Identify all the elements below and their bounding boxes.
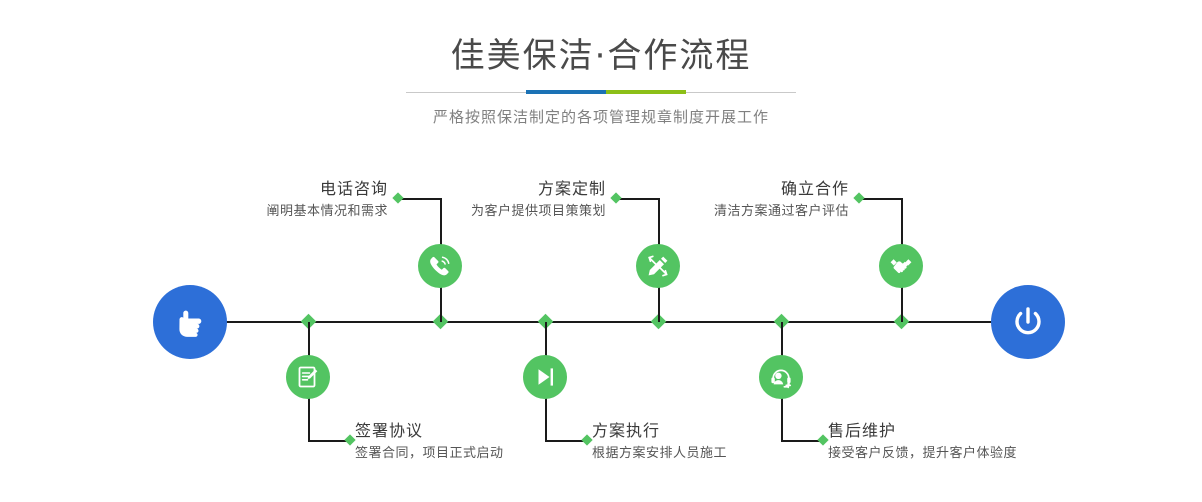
pointing-hand-icon: [169, 301, 211, 343]
step-title-6: 售后维护: [828, 420, 1017, 442]
infographic-page: 佳美保洁·合作流程 严格按照保洁制定的各项管理规章制度开展工作: [0, 0, 1202, 502]
page-subtitle: 严格按照保洁制定的各项管理规章制度开展工作: [0, 106, 1202, 128]
step-label-2: 签署协议 签署合同，项目正式启动: [355, 420, 504, 464]
step-label-1: 电话咨询 阐明基本情况和需求: [266, 178, 388, 222]
step-desc-4: 根据方案安排人员施工: [592, 444, 727, 464]
timeline-start-node[interactable]: [153, 285, 227, 359]
handshake-icon: [888, 253, 914, 279]
step-circle-2[interactable]: [286, 355, 330, 399]
timeline-end-node[interactable]: [991, 285, 1065, 359]
label-marker-5: [853, 192, 864, 203]
document-edit-icon: [295, 364, 321, 390]
step-desc-5: 清洁方案通过客户评估: [714, 202, 849, 222]
power-icon: [1008, 302, 1048, 342]
step-desc-6: 接受客户反馈，提升客户体验度: [828, 444, 1017, 464]
divider-segment-blue: [526, 90, 606, 94]
step-title-2: 签署协议: [355, 420, 504, 442]
label-marker-4: [581, 434, 592, 445]
label-marker-2: [344, 434, 355, 445]
step-circle-6[interactable]: [759, 355, 803, 399]
step-label-3: 方案定制 为客户提供项目策策划: [471, 178, 606, 222]
timeline-axis: [155, 321, 1047, 323]
connector-horizontal-5: [859, 198, 902, 200]
step-title-4: 方案执行: [592, 420, 727, 442]
label-marker-3: [610, 192, 621, 203]
step-title-3: 方案定制: [471, 178, 606, 200]
step-circle-5[interactable]: [879, 244, 923, 288]
step-label-6: 售后维护 接受客户反馈，提升客户体验度: [828, 420, 1017, 464]
title-divider: [406, 87, 796, 99]
headset-add-icon: [768, 364, 794, 390]
step-circle-1[interactable]: [418, 244, 462, 288]
phone-call-icon: [427, 253, 453, 279]
page-title: 佳美保洁·合作流程: [0, 34, 1202, 78]
step-label-4: 方案执行 根据方案安排人员施工: [592, 420, 727, 464]
connector-horizontal-1: [398, 198, 441, 200]
step-desc-1: 阐明基本情况和需求: [266, 202, 388, 222]
step-circle-3[interactable]: [636, 244, 680, 288]
label-marker-6: [817, 434, 828, 445]
process-timeline: 电话咨询 阐明基本情况和需求 签署协议 签署合同，项目正式启动: [0, 150, 1202, 502]
connector-horizontal-3: [616, 198, 659, 200]
step-desc-2: 签署合同，项目正式启动: [355, 444, 504, 464]
step-title-5: 确立合作: [714, 178, 849, 200]
step-desc-3: 为客户提供项目策策划: [471, 202, 606, 222]
play-skip-icon: [532, 364, 558, 390]
step-label-5: 确立合作 清洁方案通过客户评估: [714, 178, 849, 222]
label-marker-1: [392, 192, 403, 203]
page-header: 佳美保洁·合作流程 严格按照保洁制定的各项管理规章制度开展工作: [0, 34, 1202, 128]
step-circle-4[interactable]: [523, 355, 567, 399]
divider-segment-green: [606, 90, 686, 94]
step-title-1: 电话咨询: [266, 178, 388, 200]
pencil-ruler-icon: [645, 253, 671, 279]
